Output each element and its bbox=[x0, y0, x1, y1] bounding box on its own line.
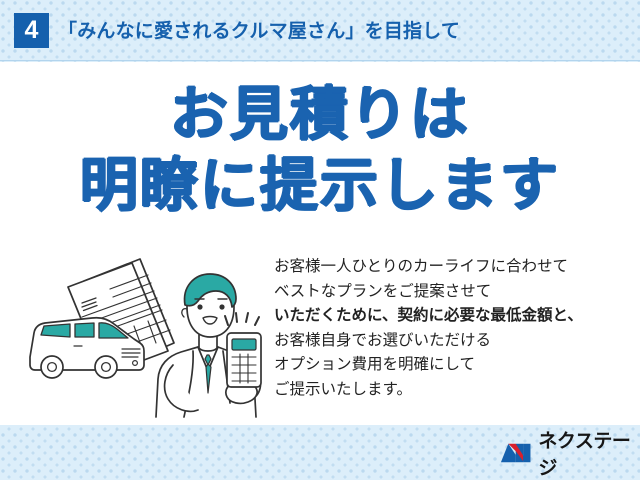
body-copy-line-4: お客様自身でお選びいただける bbox=[274, 328, 624, 353]
body-copy-line-6: ご提示いたします。 bbox=[274, 377, 624, 402]
banner-header: 4 「みんなに愛されるクルマ屋さん」を目指して bbox=[0, 0, 640, 61]
headline-block: お見積りは 明瞭に提示します bbox=[0, 82, 640, 218]
step-number-badge: 4 bbox=[14, 13, 49, 48]
body-copy-line-2: ベストなプランをご提案させて bbox=[274, 279, 624, 304]
content-card: お見積りは 明瞭に提示します bbox=[0, 62, 640, 425]
body-copy-line-1: お客様一人ひとりのカーライフに合わせて bbox=[274, 254, 624, 279]
banner-header-title: 「みんなに愛されるクルマ屋さん」を目指して bbox=[58, 16, 460, 43]
body-copy: お客様一人ひとりのカーライフに合わせて ベストなプランをご提案させて いただくた… bbox=[274, 254, 624, 401]
illustration-salesman-quote-van bbox=[22, 247, 272, 422]
body-copy-line-5: オプション費用を明確にして bbox=[274, 352, 624, 377]
nextage-n-mark-icon bbox=[500, 441, 531, 465]
headline-line-2: 明瞭に提示します bbox=[0, 153, 640, 218]
nextage-logo: ネクステージ bbox=[500, 440, 640, 466]
header-divider bbox=[0, 60, 640, 61]
illustration-svg bbox=[22, 247, 272, 422]
promo-banner: 4 「みんなに愛されるクルマ屋さん」を目指して お見積りは 明瞭に提示します bbox=[0, 0, 640, 480]
calculator bbox=[227, 333, 261, 387]
body-copy-line-3: いただくために、契約に必要な最低金額と、 bbox=[274, 303, 624, 328]
headline-line-1: お見積りは bbox=[0, 82, 640, 147]
nextage-logo-text: ネクステージ bbox=[538, 426, 640, 480]
